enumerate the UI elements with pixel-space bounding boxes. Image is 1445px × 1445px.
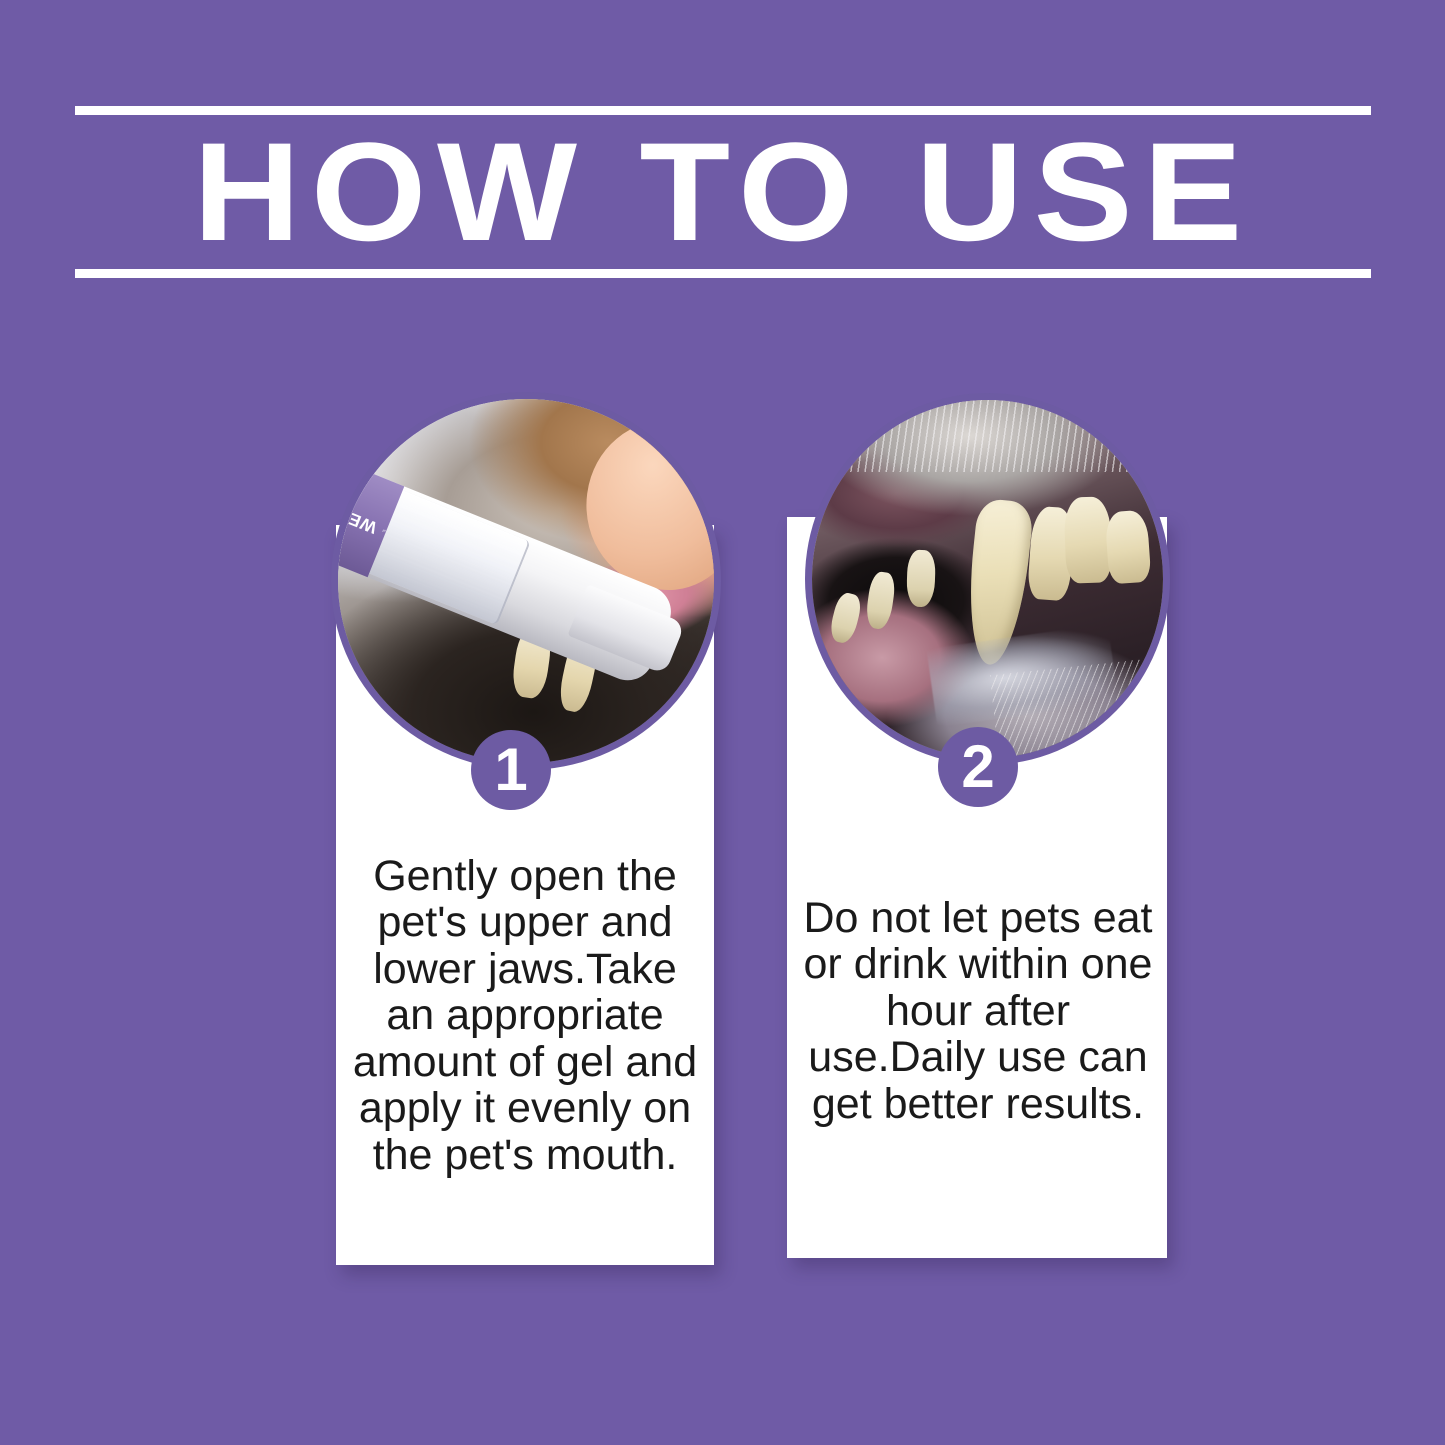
brand-name: WEGOONG [338, 481, 380, 537]
dog-fur-upper [840, 400, 1156, 472]
step-1-photo-ring: WEGOONG [331, 392, 721, 770]
step-1-photo: WEGOONG [338, 399, 714, 763]
dog-molar [1063, 496, 1112, 583]
step-2-caption: Do not let pets eat or drink within one … [803, 895, 1153, 1127]
step-2-photo-ring [805, 393, 1170, 765]
how-to-use-poster: HOW TO USE WEGOONG [0, 0, 1445, 1445]
steps-container: WEGOONG 1 Gently open the pet's upper an… [0, 0, 1445, 1445]
step-2-number-badge: 2 [938, 727, 1018, 807]
step-1-number-badge: 1 [471, 730, 551, 810]
step-1-caption: Gently open the pet's upper and lower ja… [352, 853, 698, 1178]
step-2-photo [812, 400, 1163, 758]
